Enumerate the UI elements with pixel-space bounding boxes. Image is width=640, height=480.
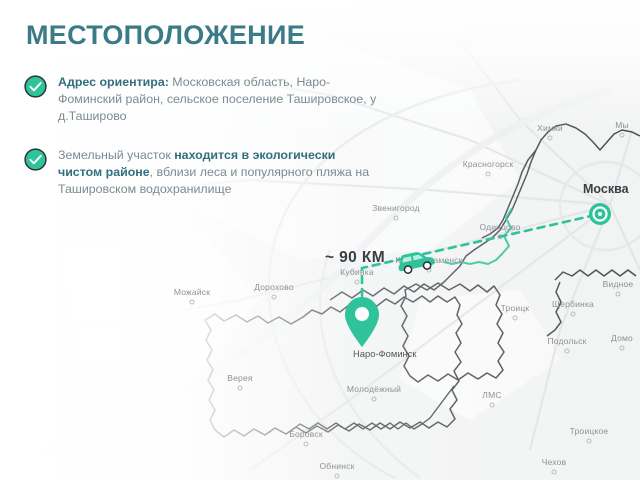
bullet-item-ecology: Земельный участок находится в экологичес…: [24, 147, 379, 198]
map-city-label: Можайск: [174, 287, 210, 297]
map-city-label: Домо: [611, 333, 633, 343]
map-svg: ХимкиМыКрасногорскЗвенигородОдинцовоКрас…: [0, 0, 640, 480]
map-city-label: Боровск: [289, 429, 323, 439]
map-city-label: Верея: [227, 373, 253, 383]
map-city-label: ЛМС: [482, 390, 501, 400]
map-city-label: Троицк: [501, 303, 530, 313]
slide-root: ХимкиМыКрасногорскЗвенигородОдинцовоКрас…: [0, 0, 640, 480]
map-city-label: Химки: [537, 123, 563, 133]
page-title: МЕСТОПОЛОЖЕНИЕ: [26, 22, 305, 49]
map-city-label: Мы: [615, 120, 629, 130]
bullet-text-address: Адрес ориентира: Московская область, Нар…: [58, 74, 379, 125]
naro-fominsk-label: Наро-Фоминск: [353, 348, 417, 359]
map-city-label: Подольск: [547, 336, 586, 346]
bullet-item-address: Адрес ориентира: Московская область, Нар…: [24, 74, 379, 125]
map-city-label: Щербинка: [552, 299, 594, 309]
bullet-lead-address: Адрес ориентира:: [58, 75, 169, 89]
check-circle-icon: [24, 148, 47, 171]
map-city-label: Молодёжный: [347, 384, 401, 394]
target-circle-icon[interactable]: [589, 203, 611, 225]
map-illustration: ХимкиМыКрасногорскЗвенигородОдинцовоКрас…: [0, 0, 640, 480]
distance-badge: ~ 90 КМ: [325, 249, 385, 267]
map-city-label: Троицкое: [570, 426, 609, 436]
check-circle-icon: [24, 75, 47, 98]
map-city-label: Чехов: [542, 457, 567, 467]
bullet-text-ecology: Земельный участок находится в экологичес…: [58, 147, 379, 198]
map-city-label: Видное: [603, 279, 634, 289]
map-city-label: Дорохово: [254, 282, 294, 292]
map-city-label: Красногорск: [463, 159, 514, 169]
bullet-pre-ecology: Земельный участок: [58, 148, 174, 162]
moscow-label: Москва: [583, 182, 629, 196]
map-city-label: Одинцово: [479, 222, 520, 232]
map-city-label: Кубинка: [340, 267, 374, 277]
map-city-label: Звенигород: [372, 203, 420, 213]
map-city-label: Обнинск: [320, 461, 355, 471]
